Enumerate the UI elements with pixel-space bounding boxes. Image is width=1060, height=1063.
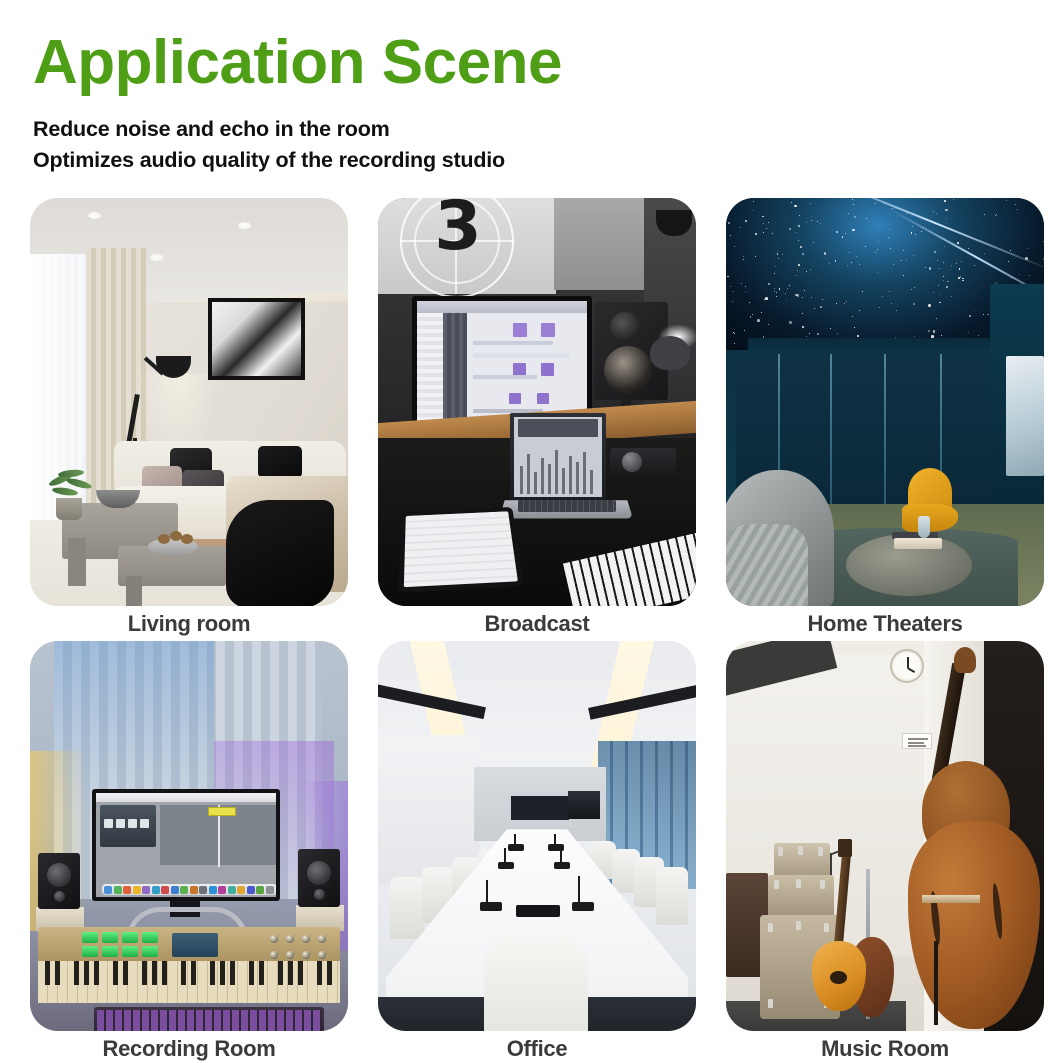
star-dot bbox=[877, 249, 878, 250]
scene-caption-home-theaters: Home Theaters bbox=[726, 606, 1044, 637]
star-dot bbox=[810, 269, 811, 270]
star-dot bbox=[956, 263, 957, 264]
star-dot bbox=[800, 246, 802, 248]
star-dot bbox=[921, 231, 923, 233]
star-dot bbox=[934, 251, 936, 253]
star-dot bbox=[822, 299, 823, 300]
star-dot bbox=[968, 248, 969, 249]
star-dot bbox=[776, 296, 777, 297]
star-dot bbox=[796, 232, 797, 233]
star-dot bbox=[951, 296, 952, 297]
star-dot bbox=[933, 292, 934, 293]
star-dot bbox=[811, 220, 812, 221]
star-dot bbox=[787, 288, 788, 289]
star-dot bbox=[936, 213, 937, 214]
star-dot bbox=[1017, 209, 1018, 210]
star-dot bbox=[743, 256, 744, 257]
star-dot bbox=[830, 328, 831, 329]
star-dot bbox=[891, 303, 892, 304]
gallery-cell-office[interactable]: Office bbox=[378, 641, 696, 1062]
star-dot bbox=[928, 330, 930, 332]
star-dot bbox=[844, 303, 845, 304]
subtitle-line-1: Reduce noise and echo in the room bbox=[33, 114, 1060, 145]
star-dot bbox=[974, 310, 975, 311]
star-dot bbox=[857, 335, 859, 337]
star-dot bbox=[755, 256, 756, 257]
star-dot bbox=[929, 267, 932, 270]
star-dot bbox=[890, 248, 891, 249]
star-dot bbox=[937, 260, 938, 261]
star-dot bbox=[853, 204, 854, 205]
star-dot bbox=[854, 216, 857, 219]
star-dot bbox=[752, 314, 753, 315]
living-room-scene-illustration bbox=[30, 198, 348, 606]
star-dot bbox=[1006, 200, 1007, 201]
star-dot bbox=[941, 335, 942, 336]
star-dot bbox=[734, 246, 735, 247]
star-dot bbox=[743, 259, 744, 260]
scene-thumbnail-music-room[interactable] bbox=[726, 641, 1044, 1031]
star-dot bbox=[795, 294, 798, 297]
scene-caption-living-room: Living room bbox=[30, 606, 348, 637]
star-dot bbox=[939, 268, 940, 269]
scene-caption-broadcast: Broadcast bbox=[378, 606, 696, 637]
star-dot bbox=[875, 203, 876, 204]
star-dot bbox=[1027, 248, 1028, 249]
star-dot bbox=[774, 273, 775, 274]
star-dot bbox=[768, 283, 770, 285]
star-dot bbox=[882, 296, 883, 297]
office-scene-illustration bbox=[378, 641, 696, 1031]
star-dot bbox=[1010, 250, 1011, 251]
star-dot bbox=[925, 267, 926, 268]
star-dot bbox=[845, 233, 846, 234]
star-dot bbox=[1015, 204, 1016, 205]
recording-room-scene-illustration bbox=[30, 641, 348, 1031]
scene-thumbnail-living-room[interactable] bbox=[30, 198, 348, 606]
star-dot bbox=[888, 237, 889, 238]
star-dot bbox=[914, 336, 915, 337]
scene-thumbnail-broadcast[interactable]: 3 bbox=[378, 198, 696, 606]
star-dot bbox=[755, 233, 758, 236]
star-dot bbox=[802, 297, 803, 298]
star-dot bbox=[740, 227, 741, 228]
star-dot bbox=[903, 250, 904, 251]
star-dot bbox=[765, 297, 768, 300]
star-dot bbox=[810, 203, 811, 204]
star-dot bbox=[944, 246, 945, 247]
star-dot bbox=[849, 252, 850, 253]
star-dot bbox=[835, 260, 837, 262]
star-dot bbox=[811, 297, 812, 298]
star-dot bbox=[753, 210, 754, 211]
gallery-cell-recording-room[interactable]: Recording Room bbox=[30, 641, 348, 1062]
star-dot bbox=[837, 333, 838, 334]
star-dot bbox=[984, 214, 985, 215]
star-dot bbox=[749, 302, 750, 303]
star-dot bbox=[762, 216, 764, 218]
star-dot bbox=[817, 221, 818, 222]
star-dot bbox=[733, 332, 734, 333]
music-room-scene-illustration bbox=[726, 641, 1044, 1031]
star-dot bbox=[806, 271, 807, 272]
star-dot bbox=[846, 301, 847, 302]
star-dot bbox=[775, 266, 776, 267]
star-dot bbox=[943, 276, 944, 277]
star-dot bbox=[878, 241, 879, 242]
star-dot bbox=[785, 293, 786, 294]
star-dot bbox=[772, 233, 773, 234]
star-dot bbox=[968, 332, 969, 333]
star-dot bbox=[814, 308, 815, 309]
star-dot bbox=[798, 225, 800, 227]
star-dot bbox=[896, 310, 897, 311]
star-dot bbox=[962, 280, 964, 282]
star-dot bbox=[928, 304, 931, 307]
star-dot bbox=[889, 229, 890, 230]
star-dot bbox=[777, 251, 778, 252]
star-dot bbox=[852, 229, 855, 232]
page-title: Application Scene bbox=[33, 32, 1060, 94]
star-dot bbox=[763, 223, 764, 224]
star-dot bbox=[774, 288, 775, 289]
scene-thumbnail-home-theaters[interactable] bbox=[726, 198, 1044, 606]
star-dot bbox=[809, 333, 810, 334]
star-dot bbox=[913, 255, 914, 256]
star-dot bbox=[820, 306, 822, 308]
star-dot bbox=[958, 277, 960, 279]
star-dot bbox=[796, 275, 797, 276]
star-dot bbox=[938, 285, 939, 286]
star-dot bbox=[802, 313, 803, 314]
star-dot bbox=[943, 280, 944, 281]
star-dot bbox=[1008, 261, 1009, 262]
star-dot bbox=[836, 303, 837, 304]
star-dot bbox=[978, 335, 979, 336]
star-dot bbox=[912, 226, 913, 227]
star-dot bbox=[734, 333, 735, 334]
star-dot bbox=[776, 292, 777, 293]
star-dot bbox=[852, 316, 853, 317]
gallery-cell-home-theaters[interactable]: Home Theaters bbox=[726, 198, 1044, 637]
star-dot bbox=[753, 201, 754, 202]
star-dot bbox=[848, 213, 849, 214]
star-dot bbox=[730, 235, 731, 236]
star-dot bbox=[939, 302, 941, 304]
star-dot bbox=[789, 228, 791, 230]
star-dot bbox=[879, 307, 880, 308]
star-dot bbox=[836, 231, 838, 233]
star-dot bbox=[798, 240, 799, 241]
star-dot bbox=[782, 254, 783, 255]
star-dot bbox=[987, 314, 989, 316]
star-dot bbox=[865, 246, 866, 247]
page-header: Application Scene Reduce noise and echo … bbox=[0, 0, 1060, 175]
star-dot bbox=[791, 202, 792, 203]
scene-gallery-grid: Living room 3 bbox=[30, 198, 1032, 1063]
star-dot bbox=[959, 268, 961, 270]
star-dot bbox=[766, 228, 767, 229]
star-dot bbox=[757, 319, 760, 322]
star-dot bbox=[943, 262, 944, 263]
star-dot bbox=[741, 283, 742, 284]
subtitle-line-2: Optimizes audio quality of the recording… bbox=[33, 145, 1060, 176]
star-dot bbox=[914, 287, 915, 288]
star-dot bbox=[727, 276, 729, 278]
star-dot bbox=[984, 253, 985, 254]
star-dot bbox=[817, 333, 819, 335]
star-dot bbox=[768, 222, 769, 223]
star-dot bbox=[945, 209, 948, 212]
star-dot bbox=[1029, 275, 1030, 276]
star-dot bbox=[969, 315, 971, 317]
star-dot bbox=[851, 262, 852, 263]
scene-caption-music-room: Music Room bbox=[726, 1031, 1044, 1062]
star-dot bbox=[933, 330, 936, 333]
star-dot bbox=[745, 220, 747, 222]
star-dot bbox=[847, 265, 848, 266]
star-dot bbox=[763, 232, 765, 234]
star-dot bbox=[906, 259, 907, 260]
star-dot bbox=[768, 324, 769, 325]
home-theater-scene-illustration bbox=[726, 198, 1044, 606]
star-dot bbox=[936, 318, 937, 319]
star-dot bbox=[903, 275, 904, 276]
star-dot bbox=[802, 326, 804, 328]
star-dot bbox=[764, 299, 765, 300]
star-dot bbox=[940, 294, 941, 295]
scene-thumbnail-office[interactable] bbox=[378, 641, 696, 1031]
star-dot bbox=[761, 312, 762, 313]
star-dot bbox=[732, 301, 734, 303]
star-dot bbox=[813, 242, 814, 243]
star-dot bbox=[961, 261, 962, 262]
star-dot bbox=[875, 252, 876, 253]
star-dot bbox=[1043, 258, 1044, 260]
star-dot bbox=[1043, 241, 1044, 242]
star-dot bbox=[951, 265, 952, 266]
star-dot bbox=[750, 316, 752, 318]
star-dot bbox=[829, 263, 831, 265]
scene-caption-recording-room: Recording Room bbox=[30, 1031, 348, 1062]
tile-corner-dot bbox=[1041, 593, 1044, 600]
star-dot bbox=[734, 343, 735, 344]
star-dot bbox=[995, 215, 996, 216]
star-dot bbox=[933, 211, 934, 212]
star-dot bbox=[911, 289, 912, 290]
star-dot bbox=[946, 286, 948, 288]
star-dot bbox=[906, 213, 907, 214]
star-dot bbox=[806, 222, 807, 223]
star-dot bbox=[1019, 274, 1020, 275]
gallery-cell-music-room[interactable]: Music Room bbox=[726, 641, 1044, 1062]
star-dot bbox=[859, 264, 860, 265]
star-dot bbox=[946, 218, 947, 219]
star-dot bbox=[730, 286, 731, 287]
star-dot bbox=[798, 264, 800, 266]
star-dot bbox=[733, 291, 734, 292]
tile-corner-dot bbox=[345, 593, 348, 600]
scene-thumbnail-recording-room[interactable] bbox=[30, 641, 348, 1031]
gallery-cell-broadcast[interactable]: 3 bbox=[378, 198, 696, 637]
star-dot bbox=[789, 321, 792, 324]
star-dot bbox=[824, 252, 827, 255]
star-dot bbox=[983, 314, 984, 315]
star-dot bbox=[745, 291, 746, 292]
star-dot bbox=[806, 336, 807, 337]
star-dot bbox=[866, 218, 867, 219]
star-dot bbox=[974, 265, 975, 266]
star-dot bbox=[799, 215, 800, 216]
star-dot bbox=[859, 310, 860, 311]
star-dot bbox=[877, 272, 878, 273]
star-dot bbox=[778, 258, 779, 259]
star-dot bbox=[820, 223, 821, 224]
star-dot bbox=[786, 300, 787, 301]
star-dot bbox=[804, 290, 805, 291]
star-dot bbox=[856, 256, 857, 257]
star-dot bbox=[854, 327, 855, 328]
star-dot bbox=[738, 200, 739, 201]
star-dot bbox=[789, 285, 790, 286]
tile-corner-dot bbox=[693, 593, 696, 600]
star-dot bbox=[944, 200, 946, 202]
star-dot bbox=[842, 236, 844, 238]
star-dot bbox=[852, 199, 853, 200]
star-dot bbox=[779, 288, 781, 290]
star-dot bbox=[957, 242, 959, 244]
star-dot bbox=[1037, 202, 1038, 203]
gallery-cell-living-room[interactable]: Living room bbox=[30, 198, 348, 637]
star-dot bbox=[802, 253, 804, 255]
star-dot bbox=[794, 205, 797, 208]
star-dot bbox=[947, 281, 949, 283]
star-dot bbox=[911, 232, 913, 234]
star-dot bbox=[953, 199, 954, 200]
star-dot bbox=[744, 330, 745, 331]
star-dot bbox=[745, 286, 746, 287]
star-dot bbox=[893, 264, 894, 265]
star-dot bbox=[728, 222, 730, 224]
star-dot bbox=[1037, 203, 1038, 204]
star-dot bbox=[913, 303, 915, 305]
star-dot bbox=[862, 291, 863, 292]
subtitle-block: Reduce noise and echo in the room Optimi… bbox=[33, 114, 1060, 175]
star-dot bbox=[797, 270, 798, 271]
star-dot bbox=[777, 253, 779, 255]
star-dot bbox=[996, 214, 997, 215]
star-dot bbox=[915, 234, 916, 235]
scene-caption-office: Office bbox=[378, 1031, 696, 1062]
star-dot bbox=[901, 260, 902, 261]
star-dot bbox=[889, 291, 890, 292]
star-dot bbox=[960, 276, 962, 278]
broadcast-scene-illustration: 3 bbox=[378, 198, 696, 606]
